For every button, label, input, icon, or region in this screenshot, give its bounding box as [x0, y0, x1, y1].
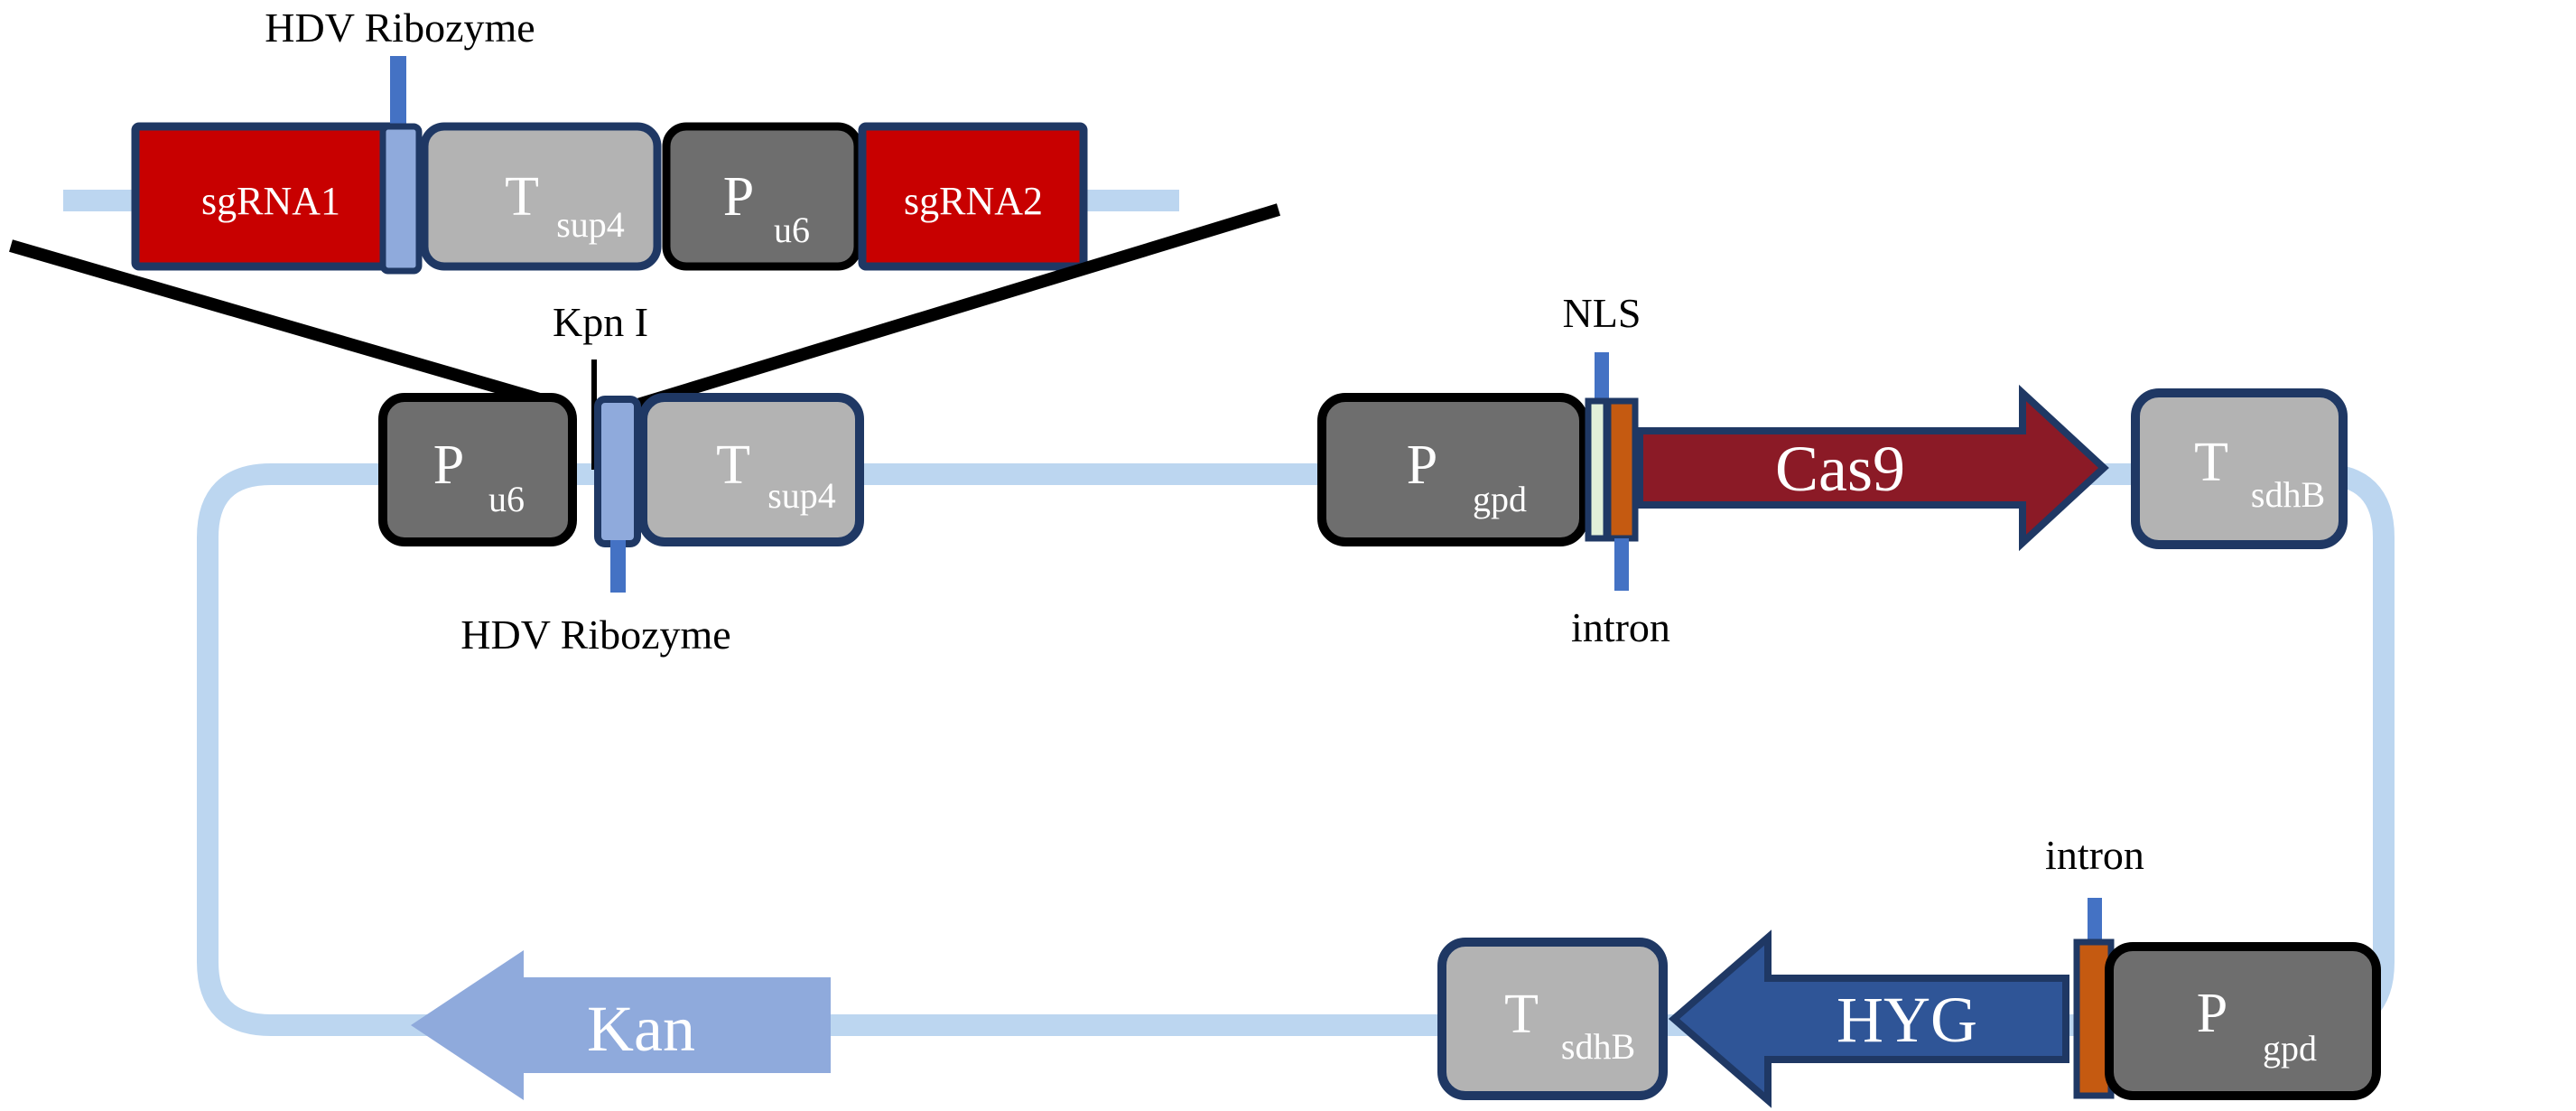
inset-sgrna2-label: sgRNA2 — [904, 179, 1043, 223]
plasmid-feature-tsup4[interactable] — [643, 397, 860, 542]
kpn-i-label: Kpn I — [553, 299, 648, 345]
tsdhb-cas9-sub-label: sdhB — [2251, 474, 2325, 515]
nls-tick — [1595, 352, 1609, 403]
plasmid-feature-tsdhb-cas9[interactable] — [2135, 393, 2343, 545]
plasmid-backbone-path — [208, 474, 2384, 1025]
diagram-canvas: sgRNA1 T sup4 P u6 sgRNA2 HDV Ribozyme P… — [0, 0, 2576, 1111]
hyg-label: HYG — [1837, 984, 1977, 1056]
plasmid-feature-pu6[interactable] — [383, 397, 572, 542]
plasmid-feature-pgpd-cas9[interactable] — [1322, 397, 1584, 542]
intron-hyg-label: intron — [2045, 832, 2144, 878]
tsdhb-hyg-sub-label: sdhB — [1561, 1026, 1635, 1067]
cas9-label: Cas9 — [1775, 433, 1905, 505]
inset-hdv-ribozyme-top-label: HDV Ribozyme — [265, 5, 535, 51]
inset-pu6-sub-label: u6 — [774, 210, 810, 250]
inset-tsup4-sub-label: sup4 — [556, 204, 625, 245]
inset-feature-tsup4[interactable] — [424, 126, 657, 266]
nls-bar[interactable] — [1588, 401, 1606, 538]
inset-hdv-ribozyme-bar[interactable] — [383, 126, 419, 271]
pgpd-cas9-main-label: P — [1407, 434, 1437, 496]
kan-label: Kan — [587, 993, 695, 1065]
pgpd-cas9-sub-label: gpd — [1473, 479, 1527, 519]
inset-feature-pu6[interactable] — [666, 126, 858, 266]
plasmid-feature-tsdhb-hyg[interactable] — [1442, 942, 1663, 1096]
plasmid-hdv-ribozyme-bar[interactable] — [598, 399, 637, 544]
inset-tsup4-main-label: T — [505, 166, 539, 228]
pgpd-hyg-main-label: P — [2197, 983, 2227, 1044]
pgpd-hyg-sub-label: gpd — [2263, 1028, 2317, 1069]
inset-hdv-ribozyme-tick — [390, 56, 406, 133]
plasmid-diagram-svg: sgRNA1 T sup4 P u6 sgRNA2 HDV Ribozyme P… — [0, 0, 2576, 1111]
plasmid-tsup4-sub-label: sup4 — [767, 475, 836, 516]
tsdhb-hyg-main-label: T — [1504, 984, 1539, 1045]
plasmid-tsup4-main-label: T — [716, 434, 750, 496]
tsdhb-cas9-main-label: T — [2194, 432, 2228, 493]
intron-bar-cas9[interactable] — [1608, 401, 1635, 538]
intron-cas9-label: intron — [1571, 604, 1670, 650]
plasmid-pu6-main-label: P — [433, 434, 464, 496]
plasmid-hdv-ribozyme-tick — [610, 540, 626, 593]
nls-label: NLS — [1563, 290, 1641, 336]
inset-sgrna1-label: sgRNA1 — [201, 179, 340, 223]
inset-pu6-main-label: P — [723, 166, 754, 228]
inset-backbone-right-stub — [1080, 190, 1179, 211]
plasmid-feature-pgpd-hyg[interactable] — [2109, 947, 2376, 1096]
plasmid-hdv-ribozyme-bottom-label: HDV Ribozyme — [460, 612, 730, 658]
plasmid-pu6-sub-label: u6 — [488, 479, 525, 519]
intron-tick-cas9 — [1614, 538, 1629, 591]
